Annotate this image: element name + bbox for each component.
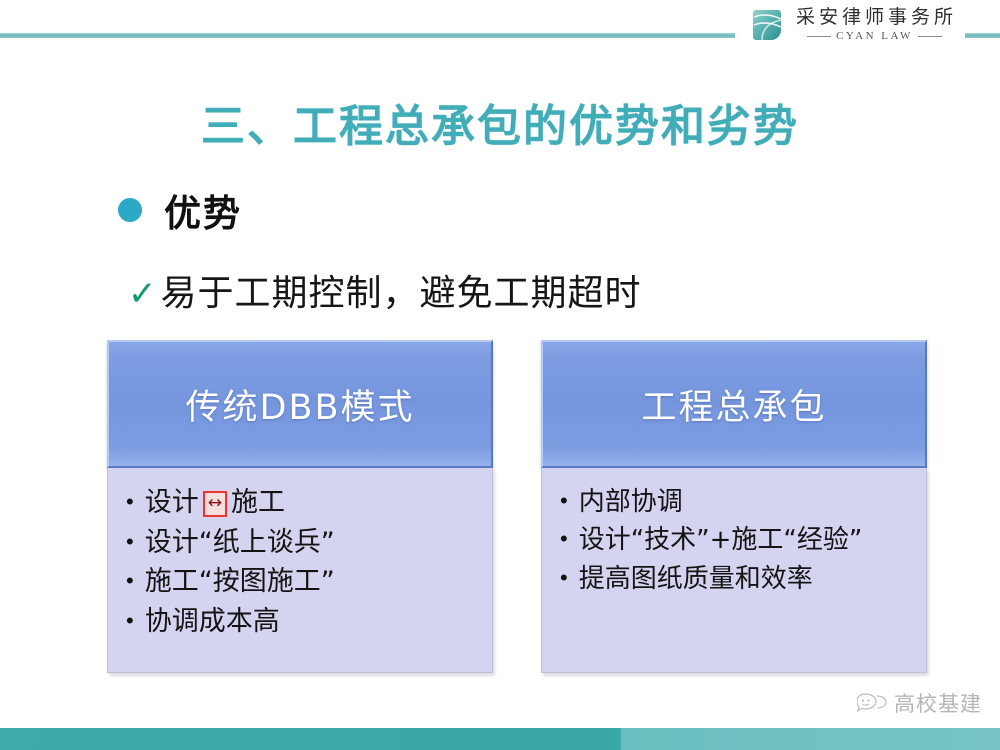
check-icon: ✓ (128, 277, 157, 311)
list-item-post: 施工 (231, 487, 285, 518)
comparison-card-left-body: • 设计↔施工 • 设计“纸上谈兵” • 施工“按图施工” • 协调成本高 (107, 468, 493, 673)
bottom-accent-bar (0, 728, 1000, 750)
watermark-label: 高校基建 (894, 688, 982, 718)
list-bullet-icon: • (560, 528, 568, 550)
watermark: 高校基建 (857, 688, 982, 718)
comparison-card-right-header: 工程总承包 (541, 340, 927, 468)
list-item-label: 设计“技术”+施工“经验” (579, 524, 863, 557)
list-item-label: 协调成本高 (145, 605, 280, 640)
brand-name-cn: 采安律师事务所 (792, 8, 957, 27)
comparison-card-left-header: 传统DBB模式 (107, 340, 493, 468)
section-heading-label: 优势 (164, 183, 242, 237)
list-bullet-icon: • (560, 567, 568, 589)
list-item: • 提高图纸质量和效率 (560, 563, 912, 596)
list-item: • 设计“纸上谈兵” (126, 526, 478, 561)
section-heading-advantages: 优势 (118, 183, 242, 237)
list-item-label: 施工“按图施工” (145, 565, 335, 600)
brand-name-en: CYAN LAW (836, 31, 913, 42)
brand-logo: 采安律师事务所 CYAN LAW (752, 8, 957, 42)
comparison-card-left: 传统DBB模式 • 设计↔施工 • 设计“纸上谈兵” • 施工“按图施工” • … (107, 340, 493, 673)
list-item-label: 提高图纸质量和效率 (579, 563, 813, 596)
comparison-card-left-title: 传统DBB模式 (186, 379, 415, 430)
list-item: • 内部协调 (560, 486, 912, 519)
bullet-dot-icon (118, 198, 142, 222)
list-item-label: 设计↔施工 (145, 486, 285, 521)
logo-rule-left (807, 36, 831, 37)
logo-rule-right (918, 36, 942, 37)
list-item: • 设计“技术”+施工“经验” (560, 524, 912, 557)
list-item-label: 设计“纸上谈兵” (145, 526, 335, 561)
double-arrow-icon: ↔ (203, 491, 227, 517)
list-item: • 施工“按图施工” (126, 565, 478, 600)
brand-name-en-row: CYAN LAW (807, 31, 942, 42)
list-item: • 协调成本高 (126, 605, 478, 640)
list-bullet-icon: • (126, 570, 134, 592)
list-bullet-icon: • (126, 610, 134, 632)
brand-logo-text: 采安律师事务所 CYAN LAW (792, 8, 957, 42)
list-item-pre: 设计 (145, 487, 199, 518)
comparison-card-right-body: • 内部协调 • 设计“技术”+施工“经验” • 提高图纸质量和效率 (541, 468, 927, 673)
cyan-law-logo-icon (752, 8, 782, 42)
list-bullet-icon: • (126, 491, 134, 513)
chat-bubble-icon (857, 692, 887, 714)
checklist-item: ✓ 易于工期控制，避免工期超时 (128, 264, 642, 316)
page-title: 三、工程总承包的优势和劣势 (0, 90, 1000, 154)
checklist-item-label: 易于工期控制，避免工期超时 (161, 264, 642, 316)
comparison-card-right-title: 工程总承包 (641, 379, 826, 430)
list-bullet-icon: • (560, 490, 568, 512)
slide-canvas: 采安律师事务所 CYAN LAW 三、工程总承包的优势和劣势 优势 ✓ 易于工期… (0, 0, 1000, 750)
list-bullet-icon: • (126, 531, 134, 553)
list-item: • 设计↔施工 (126, 486, 478, 521)
list-item-label: 内部协调 (579, 486, 683, 519)
comparison-card-right: 工程总承包 • 内部协调 • 设计“技术”+施工“经验” • 提高图纸质量和效率 (541, 340, 927, 673)
